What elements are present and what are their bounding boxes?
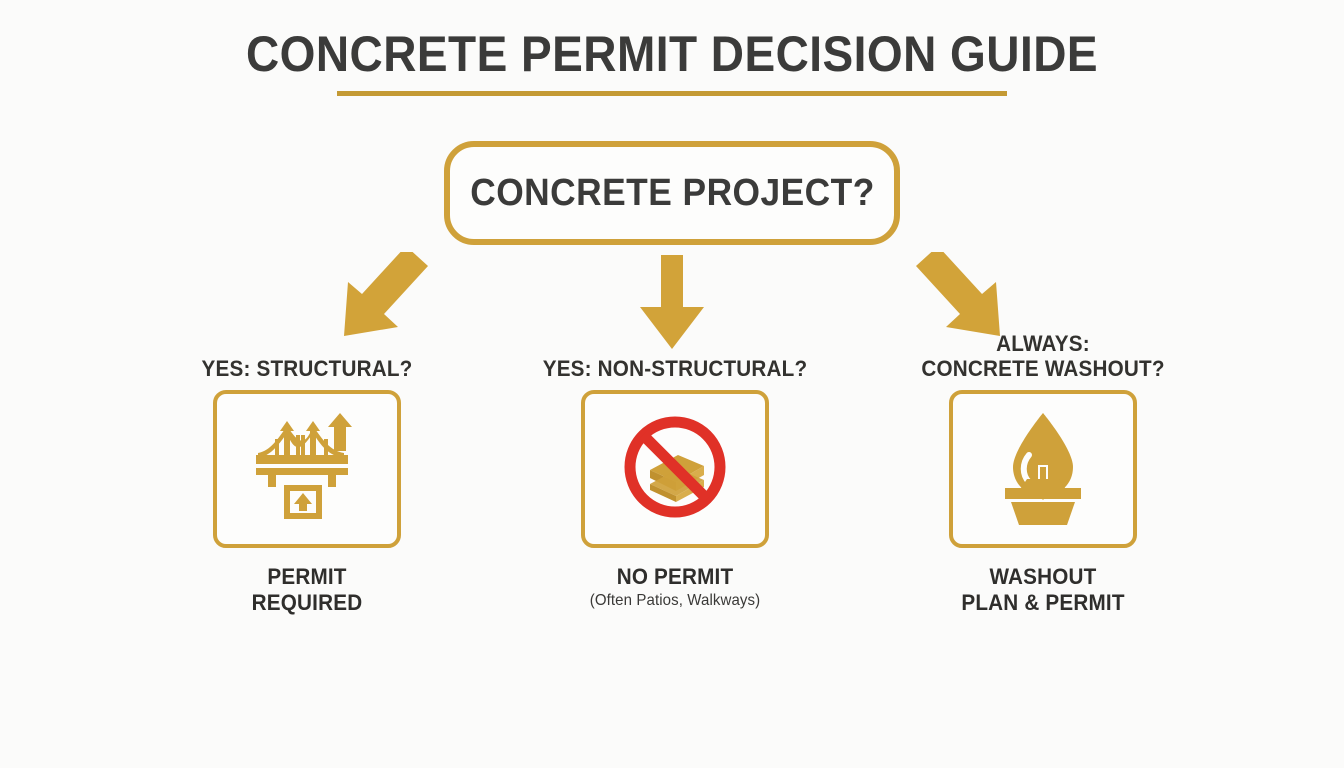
title-underline-rule: [337, 91, 1007, 96]
branch-washout-icon-card[interactable]: [949, 390, 1137, 548]
branch-non-structural-question: Yes: Non-Structural?: [534, 330, 816, 382]
branch-structural-result-line1: Permit: [166, 564, 448, 590]
branch-non-structural-icon-card[interactable]: [581, 390, 769, 548]
branch-washout-result: Washout Plan & Permit: [902, 564, 1184, 615]
branch-non-structural-note: (Often Patios, Walkways): [534, 591, 816, 610]
branch-non-structural-question-line1: Yes: Non-Structural?: [543, 356, 808, 382]
branch-washout-result-line1: Washout: [902, 564, 1184, 590]
root-decision-label: Concrete Project?: [470, 172, 875, 215]
branch-non-structural: Yes: Non-Structural?: [525, 330, 825, 610]
concrete-washout-icon: [987, 409, 1099, 530]
branch-washout-question: Always: Concrete Washout?: [902, 330, 1184, 382]
branch-non-structural-result: No Permit (Often Patios, Walkways): [534, 564, 816, 610]
branch-structural-icon-card[interactable]: [213, 390, 401, 548]
no-permit-slab-icon: [616, 408, 734, 531]
branch-washout-question-line2: Concrete Washout?: [921, 356, 1164, 382]
root-decision-node[interactable]: Concrete Project?: [444, 141, 900, 245]
page-title: Concrete Permit Decision Guide: [0, 28, 1344, 96]
branch-structural-question: Yes: Structural?: [166, 330, 448, 382]
bridge-structure-icon: [248, 411, 366, 528]
branch-structural-question-line1: Yes: Structural?: [202, 356, 413, 382]
branch-structural-result-line2: Required: [166, 590, 448, 616]
page-title-text: Concrete Permit Decision Guide: [54, 28, 1290, 81]
branch-washout-question-line1: Always:: [996, 331, 1090, 357]
branch-structural: Yes: Structural?: [157, 330, 457, 615]
branch-washout: Always: Concrete Washout?: [893, 330, 1193, 615]
infographic-canvas: Concrete Permit Decision Guide Concrete …: [0, 0, 1344, 768]
branch-washout-result-line2: Plan & Permit: [902, 590, 1184, 616]
branch-structural-result: Permit Required: [166, 564, 448, 615]
branch-non-structural-result-line1: No Permit: [534, 564, 816, 590]
